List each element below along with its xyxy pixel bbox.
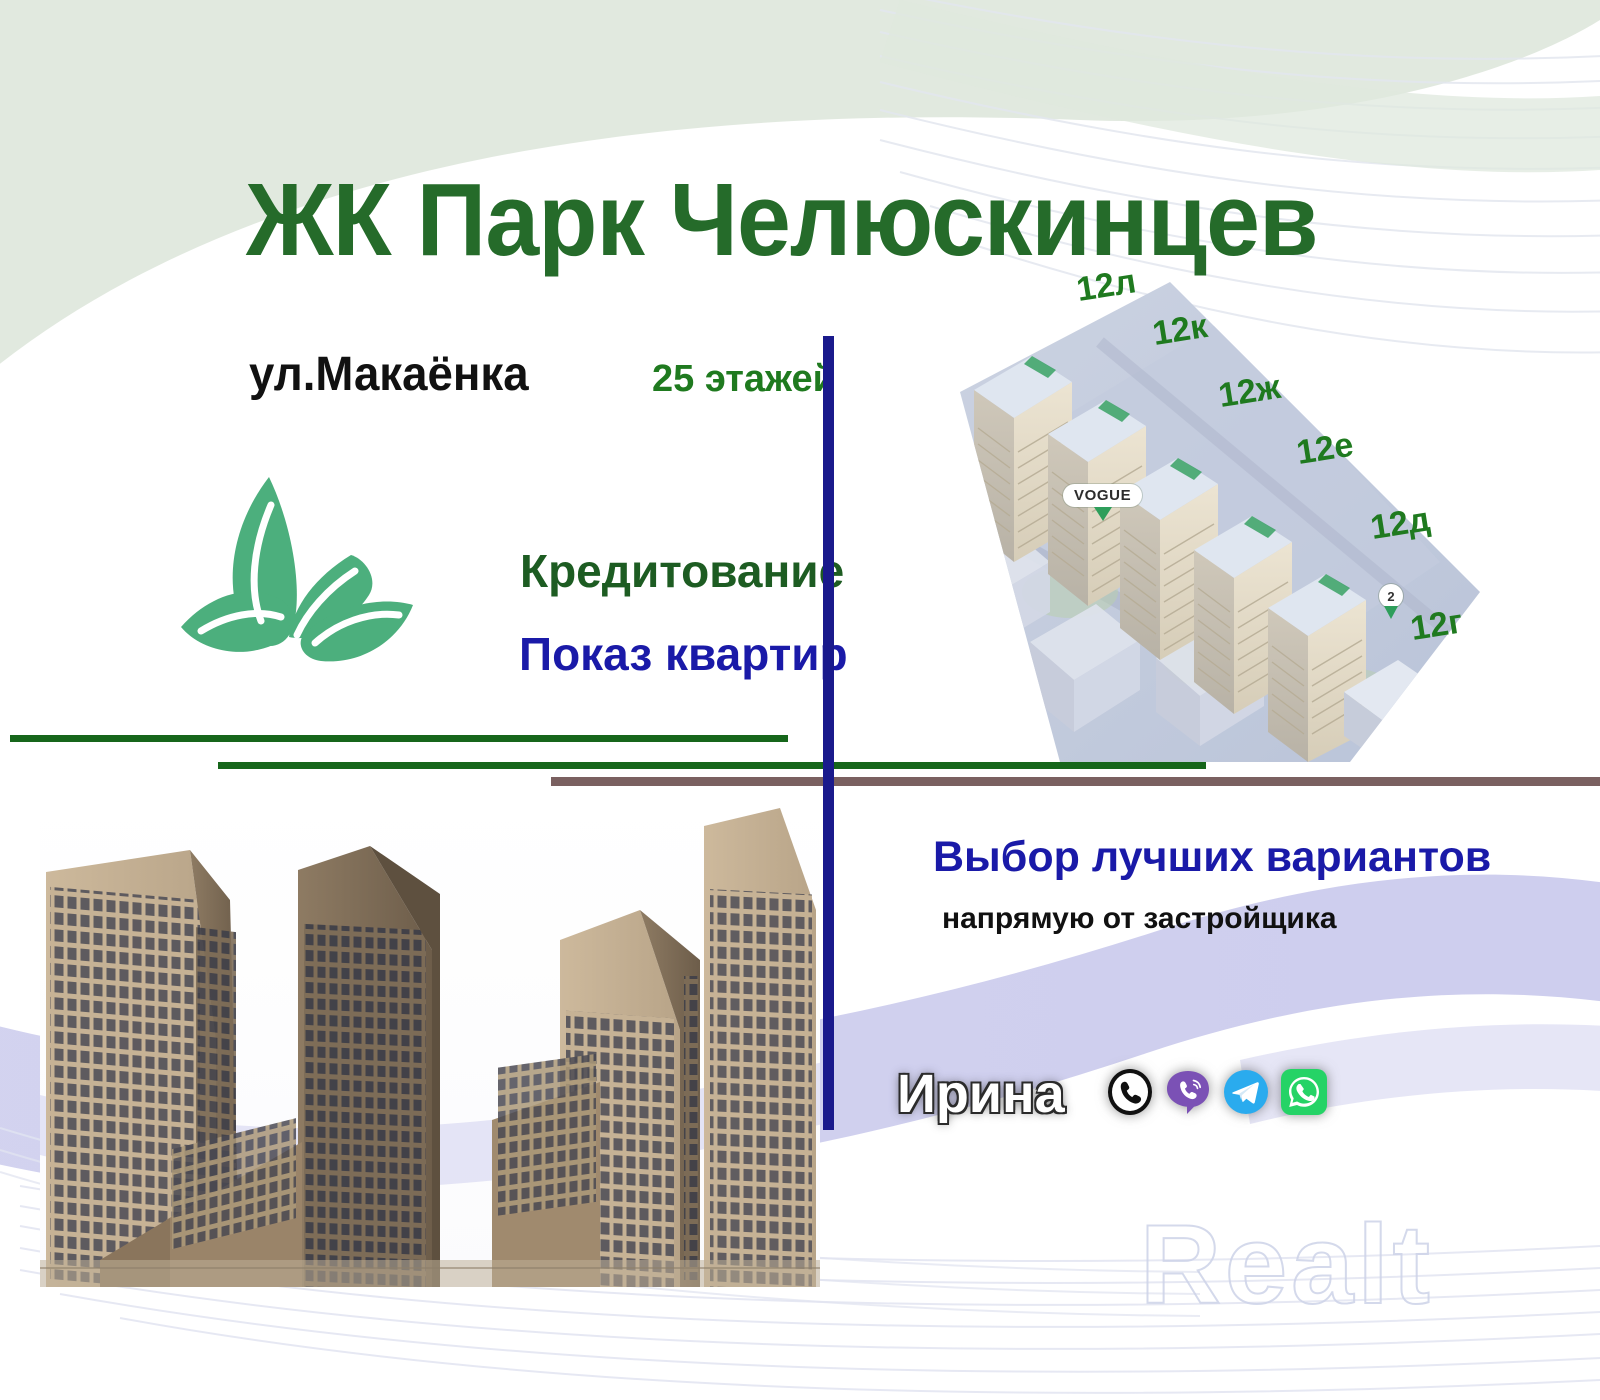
agent-name: Ирина — [897, 1063, 1065, 1125]
divider-green-upper — [10, 735, 788, 742]
phone-icon[interactable] — [1106, 1068, 1154, 1116]
service-credit: Кредитование — [520, 544, 844, 598]
number-pin-tail — [1384, 606, 1398, 619]
divider-green-lower — [218, 762, 1206, 769]
number-map-pin: 2 — [1379, 584, 1403, 619]
offer-subline: напрямую от застройщика — [942, 902, 1337, 936]
building-photo — [40, 790, 820, 1287]
vogue-pin-label: VOGUE — [1063, 484, 1142, 507]
floors-count: 25 этажей — [652, 358, 836, 401]
offer-headline: Выбор лучших вариантов — [933, 833, 1491, 882]
number-pin-label: 2 — [1379, 584, 1403, 608]
divider-brown — [551, 777, 1600, 786]
vogue-map-pin: VOGUE — [1063, 484, 1142, 521]
vogue-pin-tail — [1094, 507, 1112, 521]
realt-watermark: Realt — [1140, 1200, 1434, 1329]
service-show-apartments: Показ квартир — [519, 627, 848, 681]
green-band-topright — [880, 0, 1600, 172]
whatsapp-icon[interactable] — [1280, 1068, 1328, 1116]
viber-icon[interactable] — [1164, 1068, 1212, 1116]
real-estate-ad-poster: ЖК Парк Челюскинцев ул.Макаёнка 25 этаже… — [0, 0, 1600, 1400]
green-leaf-logo — [165, 455, 425, 705]
street-address: ул.Макаёнка — [249, 347, 529, 402]
page-title: ЖК Парк Челюскинцев — [246, 168, 1318, 271]
building-label-12g: 12г — [1408, 602, 1465, 649]
telegram-icon[interactable] — [1222, 1068, 1270, 1116]
divider-vertical-blue — [823, 336, 834, 1130]
messenger-icons — [1106, 1068, 1328, 1116]
